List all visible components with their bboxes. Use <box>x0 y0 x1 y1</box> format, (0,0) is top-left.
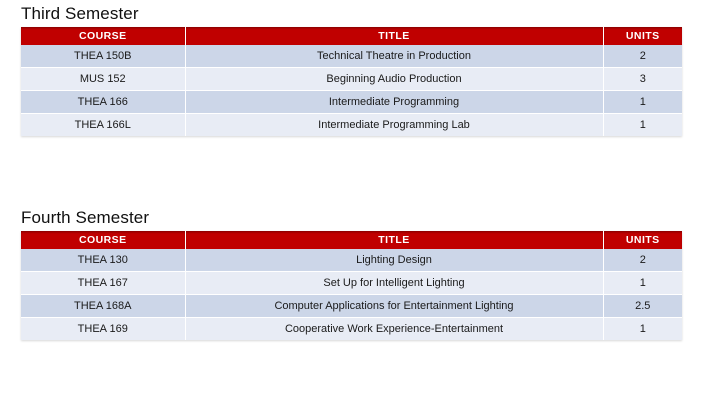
cell-course: THEA 167 <box>21 272 185 295</box>
table-row: MUS 152 Beginning Audio Production 3 <box>21 68 682 91</box>
cell-units: 1 <box>603 272 682 295</box>
column-header-units: UNITS <box>603 231 682 249</box>
table-body-third: THEA 150B Technical Theatre in Productio… <box>21 45 682 136</box>
slide-canvas: Third Semester COURSE TITLE UNITS THEA 1… <box>0 0 720 405</box>
table-header-row: COURSE TITLE UNITS <box>21 27 682 45</box>
cell-course: THEA 168A <box>21 295 185 318</box>
column-header-title: TITLE <box>185 27 603 45</box>
column-header-title: TITLE <box>185 231 603 249</box>
column-header-course: COURSE <box>21 231 185 249</box>
course-table-third-semester: COURSE TITLE UNITS THEA 150B Technical T… <box>21 27 682 136</box>
cell-units: 3 <box>603 68 682 91</box>
cell-course: THEA 150B <box>21 45 185 68</box>
table-header-row: COURSE TITLE UNITS <box>21 231 682 249</box>
cell-units: 1 <box>603 114 682 137</box>
cell-course: THEA 169 <box>21 318 185 341</box>
table-body-fourth: THEA 130 Lighting Design 2 THEA 167 Set … <box>21 249 682 340</box>
table-row: THEA 169 Cooperative Work Experience-Ent… <box>21 318 682 341</box>
semester-section-fourth: Fourth Semester COURSE TITLE UNITS THEA … <box>0 208 720 340</box>
cell-course: THEA 166L <box>21 114 185 137</box>
cell-title: Lighting Design <box>185 249 603 272</box>
cell-course: THEA 130 <box>21 249 185 272</box>
table-header-third: COURSE TITLE UNITS <box>21 27 682 45</box>
table-row: THEA 166 Intermediate Programming 1 <box>21 91 682 114</box>
cell-title: Set Up for Intelligent Lighting <box>185 272 603 295</box>
course-table-fourth-semester: COURSE TITLE UNITS THEA 130 Lighting Des… <box>21 231 682 340</box>
table-row: THEA 167 Set Up for Intelligent Lighting… <box>21 272 682 295</box>
cell-course: MUS 152 <box>21 68 185 91</box>
section-title-third-semester: Third Semester <box>0 4 720 24</box>
column-header-course: COURSE <box>21 27 185 45</box>
column-header-units: UNITS <box>603 27 682 45</box>
cell-title: Intermediate Programming <box>185 91 603 114</box>
section-title-fourth-semester: Fourth Semester <box>0 208 720 228</box>
table-row: THEA 150B Technical Theatre in Productio… <box>21 45 682 68</box>
table-row: THEA 166L Intermediate Programming Lab 1 <box>21 114 682 137</box>
semester-section-third: Third Semester COURSE TITLE UNITS THEA 1… <box>0 4 720 136</box>
cell-title: Beginning Audio Production <box>185 68 603 91</box>
cell-units: 2 <box>603 45 682 68</box>
table-header-fourth: COURSE TITLE UNITS <box>21 231 682 249</box>
cell-units: 1 <box>603 318 682 341</box>
cell-title: Technical Theatre in Production <box>185 45 603 68</box>
cell-title: Cooperative Work Experience-Entertainmen… <box>185 318 603 341</box>
cell-units: 2.5 <box>603 295 682 318</box>
table-row: THEA 168A Computer Applications for Ente… <box>21 295 682 318</box>
cell-course: THEA 166 <box>21 91 185 114</box>
cell-title: Computer Applications for Entertainment … <box>185 295 603 318</box>
cell-units: 2 <box>603 249 682 272</box>
cell-units: 1 <box>603 91 682 114</box>
cell-title: Intermediate Programming Lab <box>185 114 603 137</box>
table-row: THEA 130 Lighting Design 2 <box>21 249 682 272</box>
